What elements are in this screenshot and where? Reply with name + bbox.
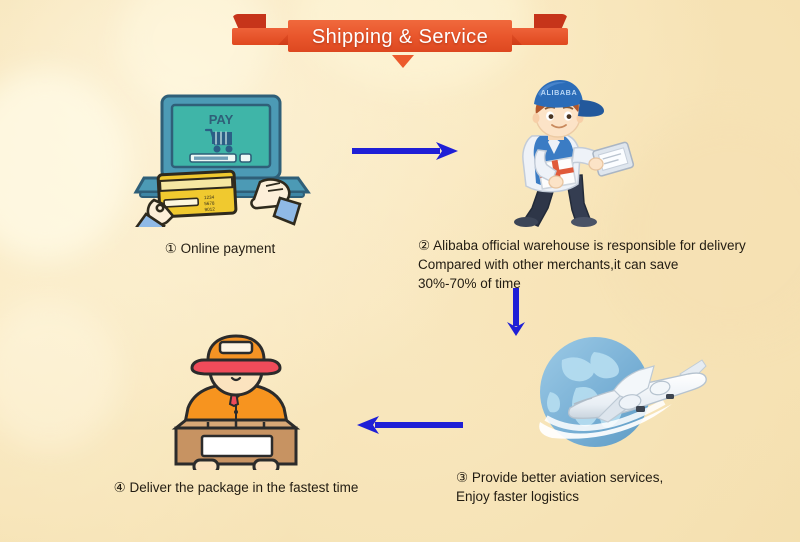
step-fastest-delivery-caption: ④ Deliver the package in the fastest tim… — [86, 478, 386, 497]
arrow-right-icon — [352, 140, 460, 167]
banner-title: Shipping & Service — [232, 14, 568, 56]
step-fastest-delivery: ④ Deliver the package in the fastest tim… — [86, 330, 386, 497]
laptop-online-payment-icon: PAY 123 — [110, 82, 330, 227]
step-online-payment-caption: ① Online payment — [110, 239, 330, 258]
step-aviation-services-caption: ③ Provide better aviation services, Enjo… — [440, 468, 780, 506]
courier-cap-text: ALIBABA — [541, 88, 578, 97]
banner: Shipping & Service — [232, 14, 568, 56]
step-aviation-services: ③ Provide better aviation services, Enjo… — [440, 330, 780, 506]
svg-text:PAY: PAY — [209, 112, 234, 127]
svg-text:9012: 9012 — [204, 207, 215, 213]
courier-holding-box-icon — [86, 330, 386, 470]
step-warehouse-delivery: ALIBABA ② Alibaba official warehouse is … — [418, 78, 788, 293]
step-warehouse-delivery-caption: ② Alibaba official warehouse is responsi… — [418, 236, 788, 293]
delivery-courier-alibaba-icon: ALIBABA — [418, 78, 788, 230]
svg-text:1234: 1234 — [204, 195, 215, 201]
banner-caret-down-icon — [392, 55, 414, 68]
step-online-payment: PAY 123 — [110, 82, 330, 258]
arrow-left-icon — [355, 414, 463, 441]
globe-airplane-aviation-icon — [440, 330, 780, 460]
svg-text:5678: 5678 — [204, 201, 215, 207]
arrow-down-icon — [505, 288, 527, 343]
